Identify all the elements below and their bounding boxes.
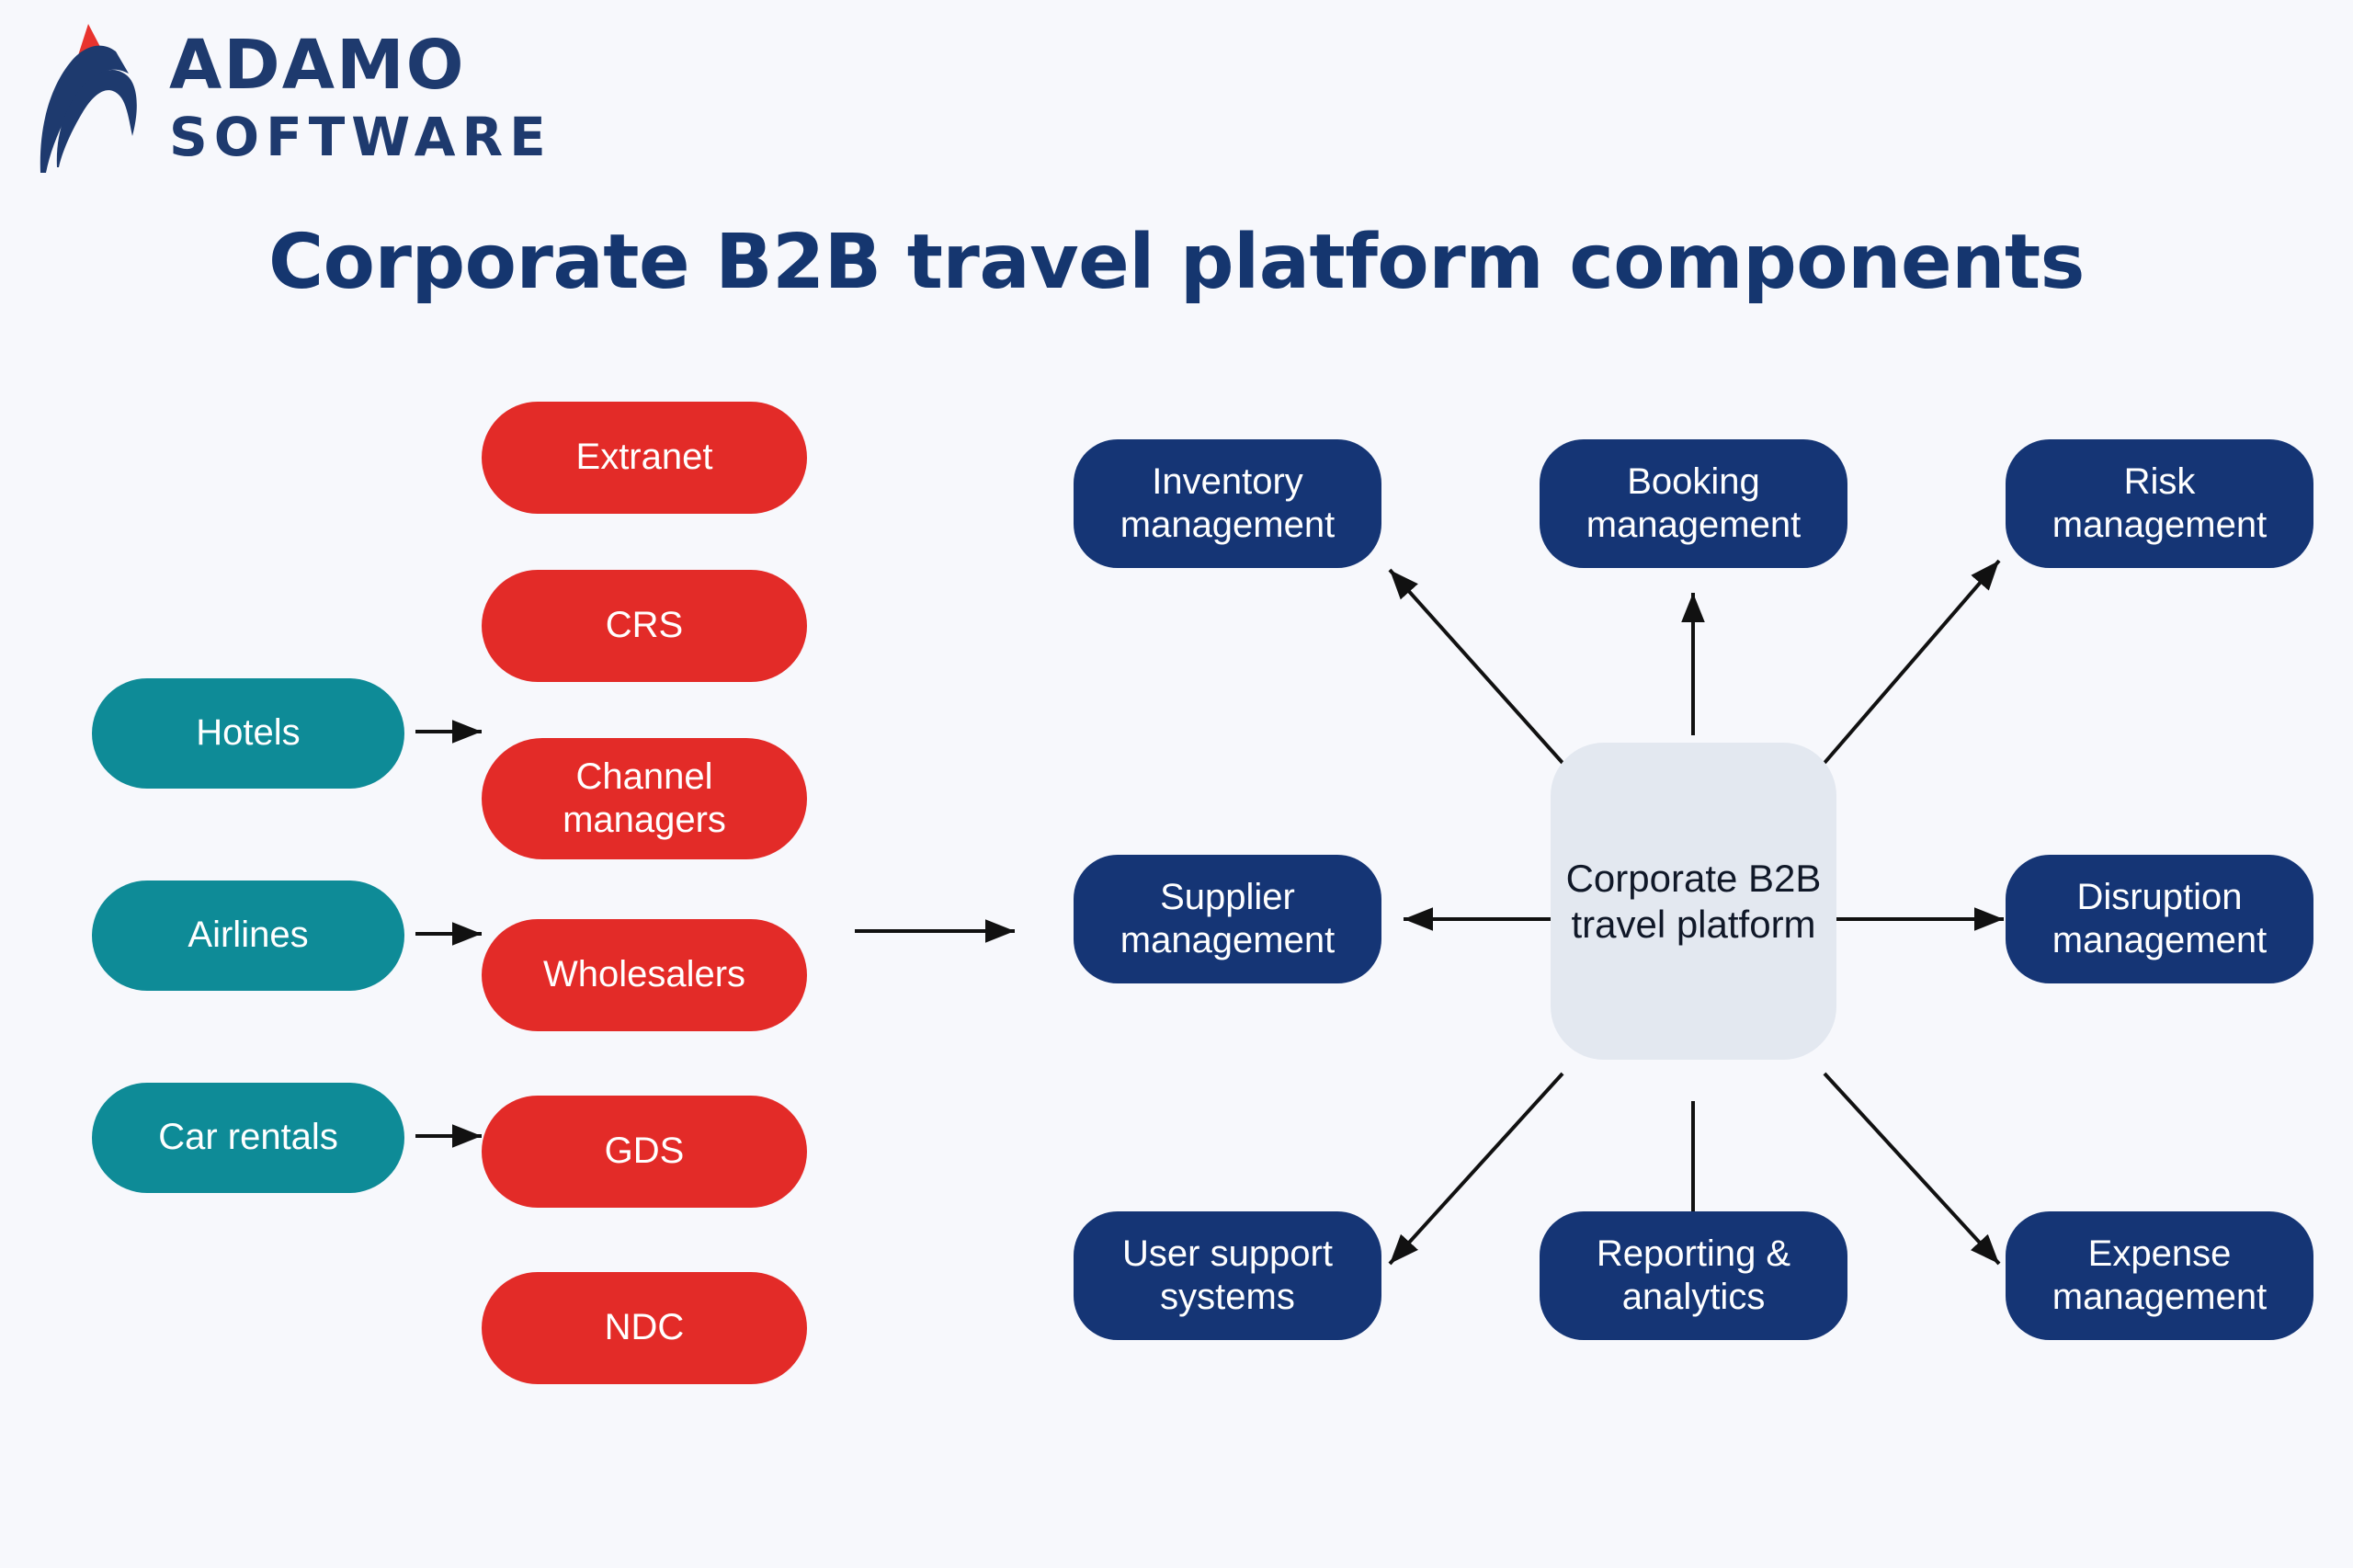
node-supplier-management[interactable]: Supplier management: [1074, 855, 1381, 983]
node-label: Risk management: [2018, 460, 2301, 547]
node-hotels[interactable]: Hotels: [92, 678, 404, 789]
node-inventory-management[interactable]: Inventory management: [1074, 439, 1381, 568]
adamo-swoosh-icon: [31, 20, 151, 176]
logo-name-primary: ADAMO: [169, 31, 564, 99]
connector-hub-to-risk: [1824, 561, 1999, 763]
node-gds[interactable]: GDS: [482, 1096, 807, 1208]
node-label: Extranet: [576, 436, 713, 479]
node-car-rentals[interactable]: Car rentals: [92, 1083, 404, 1193]
node-label: Inventory management: [1086, 460, 1369, 547]
node-reporting-analytics[interactable]: Reporting & analytics: [1540, 1211, 1847, 1340]
node-label: Wholesalers: [543, 953, 745, 996]
node-disruption-management[interactable]: Disruption management: [2006, 855, 2313, 983]
node-label: User support systems: [1086, 1233, 1369, 1319]
adamo-software-logo: ADAMO SOFTWARE: [31, 20, 583, 186]
logo-name-secondary: SOFTWARE: [169, 110, 564, 164]
node-wholesalers[interactable]: Wholesalers: [482, 919, 807, 1031]
node-user-support-systems[interactable]: User support systems: [1074, 1211, 1381, 1340]
node-label: Hotels: [196, 711, 300, 755]
node-channel-managers[interactable]: Channel managers: [482, 738, 807, 859]
node-label: Booking management: [1552, 460, 1835, 547]
page-title: Corporate B2B travel platform components: [0, 219, 2353, 306]
node-label: Channel managers: [494, 756, 794, 842]
node-label: CRS: [606, 604, 683, 647]
node-label: Supplier management: [1086, 876, 1369, 962]
node-label: Disruption management: [2018, 876, 2301, 962]
node-label: Reporting & analytics: [1552, 1233, 1835, 1319]
node-risk-management[interactable]: Risk management: [2006, 439, 2313, 568]
node-label: Car rentals: [158, 1116, 338, 1159]
node-ndc[interactable]: NDC: [482, 1272, 807, 1384]
connector-hub-to-usersupport: [1390, 1074, 1563, 1264]
node-extranet[interactable]: Extranet: [482, 402, 807, 514]
node-expense-management[interactable]: Expense management: [2006, 1211, 2313, 1340]
node-crs[interactable]: CRS: [482, 570, 807, 682]
node-label: GDS: [605, 1130, 685, 1173]
connector-hub-to-inventory: [1390, 570, 1563, 763]
logo-wordmark: ADAMO SOFTWARE: [169, 31, 564, 178]
node-label: NDC: [605, 1306, 685, 1349]
connector-hub-to-expense: [1824, 1074, 1999, 1264]
node-corporate-b2b-travel-platform[interactable]: Corporate B2B travel platform: [1551, 743, 1836, 1060]
node-airlines[interactable]: Airlines: [92, 881, 404, 991]
node-label: Corporate B2B travel platform: [1563, 856, 1824, 947]
diagram-canvas: ADAMO SOFTWARE Corporate B2B travel plat…: [0, 0, 2353, 1568]
node-label: Airlines: [188, 914, 308, 957]
node-label: Expense management: [2018, 1233, 2301, 1319]
node-booking-management[interactable]: Booking management: [1540, 439, 1847, 568]
